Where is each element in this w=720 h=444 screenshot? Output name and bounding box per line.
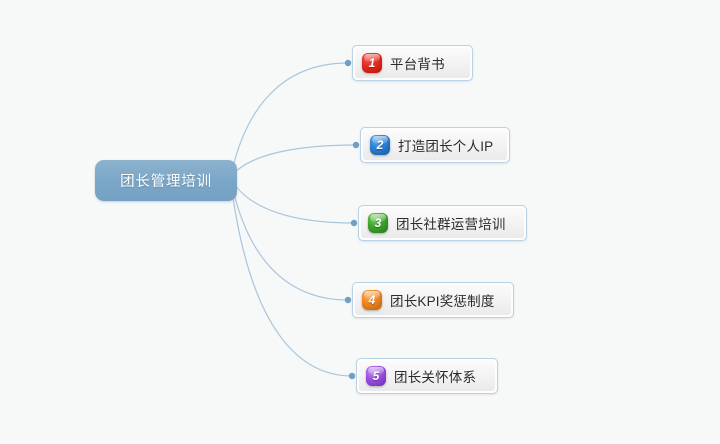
root-node[interactable]: 团长管理培训 <box>95 160 237 201</box>
connector-dot-2 <box>353 142 359 148</box>
connector-dot-3 <box>351 220 357 226</box>
badge-number: 2 <box>377 139 384 151</box>
child-node-inner: 5团长关怀体系 <box>359 361 495 391</box>
badge-number: 3 <box>375 217 382 229</box>
mindmap-canvas: 团长管理培训 1平台背书2打造团长个人IP3团长社群运营培训4团长KPI奖惩制度… <box>0 0 720 444</box>
number-badge-icon: 2 <box>370 135 390 155</box>
child-node-inner: 1平台背书 <box>355 48 470 78</box>
child-node-inner: 3团长社群运营培训 <box>361 208 524 238</box>
child-node-4[interactable]: 4团长KPI奖惩制度 <box>352 282 514 318</box>
connector-edge-5 <box>232 191 352 377</box>
number-badge-icon: 5 <box>366 366 386 386</box>
number-badge-icon: 1 <box>362 53 382 73</box>
child-node-inner: 2打造团长个人IP <box>363 130 507 160</box>
connector-edge-3 <box>232 181 354 224</box>
badge-number: 4 <box>369 294 376 306</box>
child-node-label: 平台背书 <box>390 53 445 73</box>
root-node-label: 团长管理培训 <box>120 170 212 191</box>
child-node-label: 团长KPI奖惩制度 <box>390 290 495 310</box>
child-node-2[interactable]: 2打造团长个人IP <box>360 127 510 163</box>
child-node-5[interactable]: 5团长关怀体系 <box>356 358 498 394</box>
number-badge-icon: 3 <box>368 213 388 233</box>
child-node-label: 打造团长个人IP <box>398 135 493 155</box>
connector-edge-2 <box>232 145 356 176</box>
number-badge-icon: 4 <box>362 290 382 310</box>
child-node-label: 团长社群运营培训 <box>396 213 506 233</box>
child-node-inner: 4团长KPI奖惩制度 <box>355 285 511 315</box>
connector-edge-1 <box>232 63 348 171</box>
badge-number: 1 <box>369 57 376 69</box>
child-node-1[interactable]: 1平台背书 <box>352 45 473 81</box>
connector-dot-5 <box>349 373 355 379</box>
badge-number: 5 <box>373 370 380 382</box>
child-node-label: 团长关怀体系 <box>394 366 476 386</box>
connector-dot-1 <box>345 60 351 66</box>
connector-dot-4 <box>345 297 351 303</box>
connector-edge-4 <box>232 186 348 301</box>
child-node-3[interactable]: 3团长社群运营培训 <box>358 205 527 241</box>
